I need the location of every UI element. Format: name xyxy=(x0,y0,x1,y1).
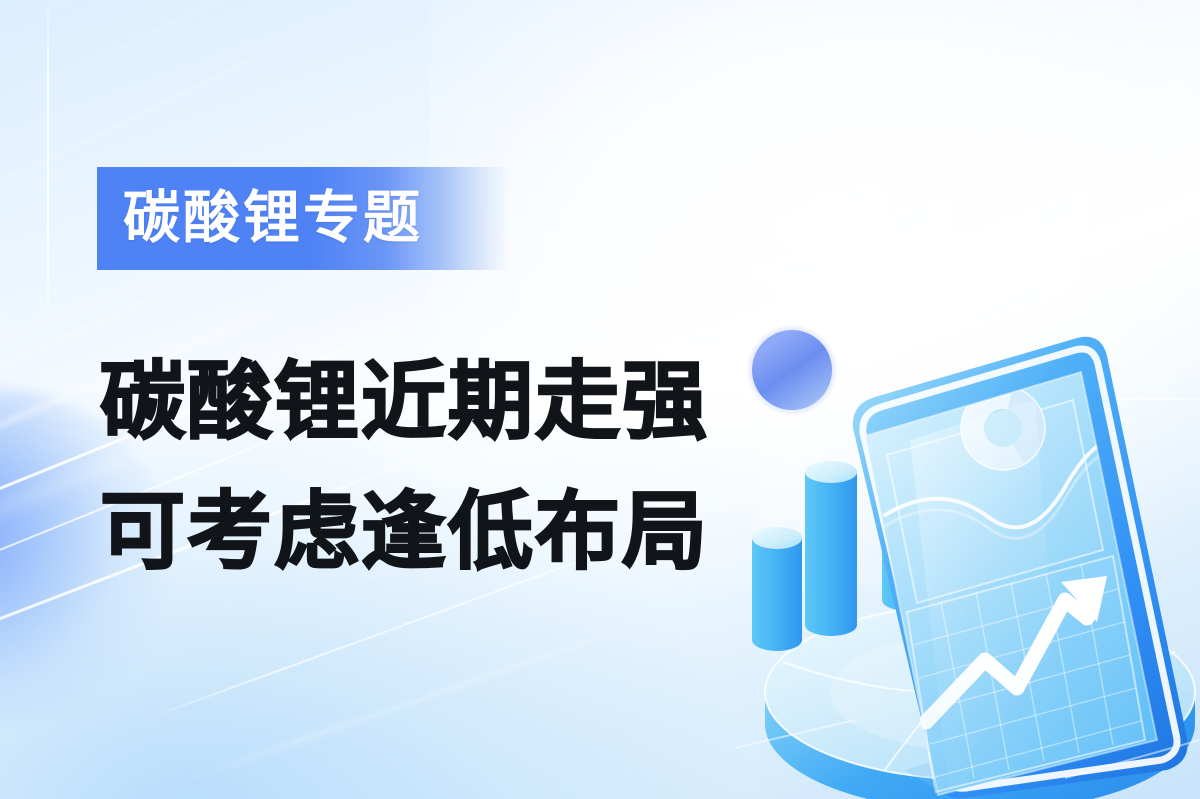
topic-badge: 碳酸锂专题 xyxy=(97,167,509,270)
headline-line-2: 可考虑逢低布局 xyxy=(100,468,760,598)
headline-line-1: 碳酸锂近期走强 xyxy=(100,338,760,468)
accent-sphere xyxy=(746,324,838,416)
bar-medium xyxy=(805,461,857,636)
banner-root: 碳酸锂专题 碳酸锂近期走强 可考虑逢低布局 xyxy=(0,0,1200,799)
hero-illustration xyxy=(735,300,1200,799)
background-vertical-hairline xyxy=(47,0,49,350)
page-title: 碳酸锂近期走强 可考虑逢低布局 xyxy=(100,338,760,598)
topic-badge-label: 碳酸锂专题 xyxy=(97,190,423,247)
bar-short xyxy=(752,527,802,651)
